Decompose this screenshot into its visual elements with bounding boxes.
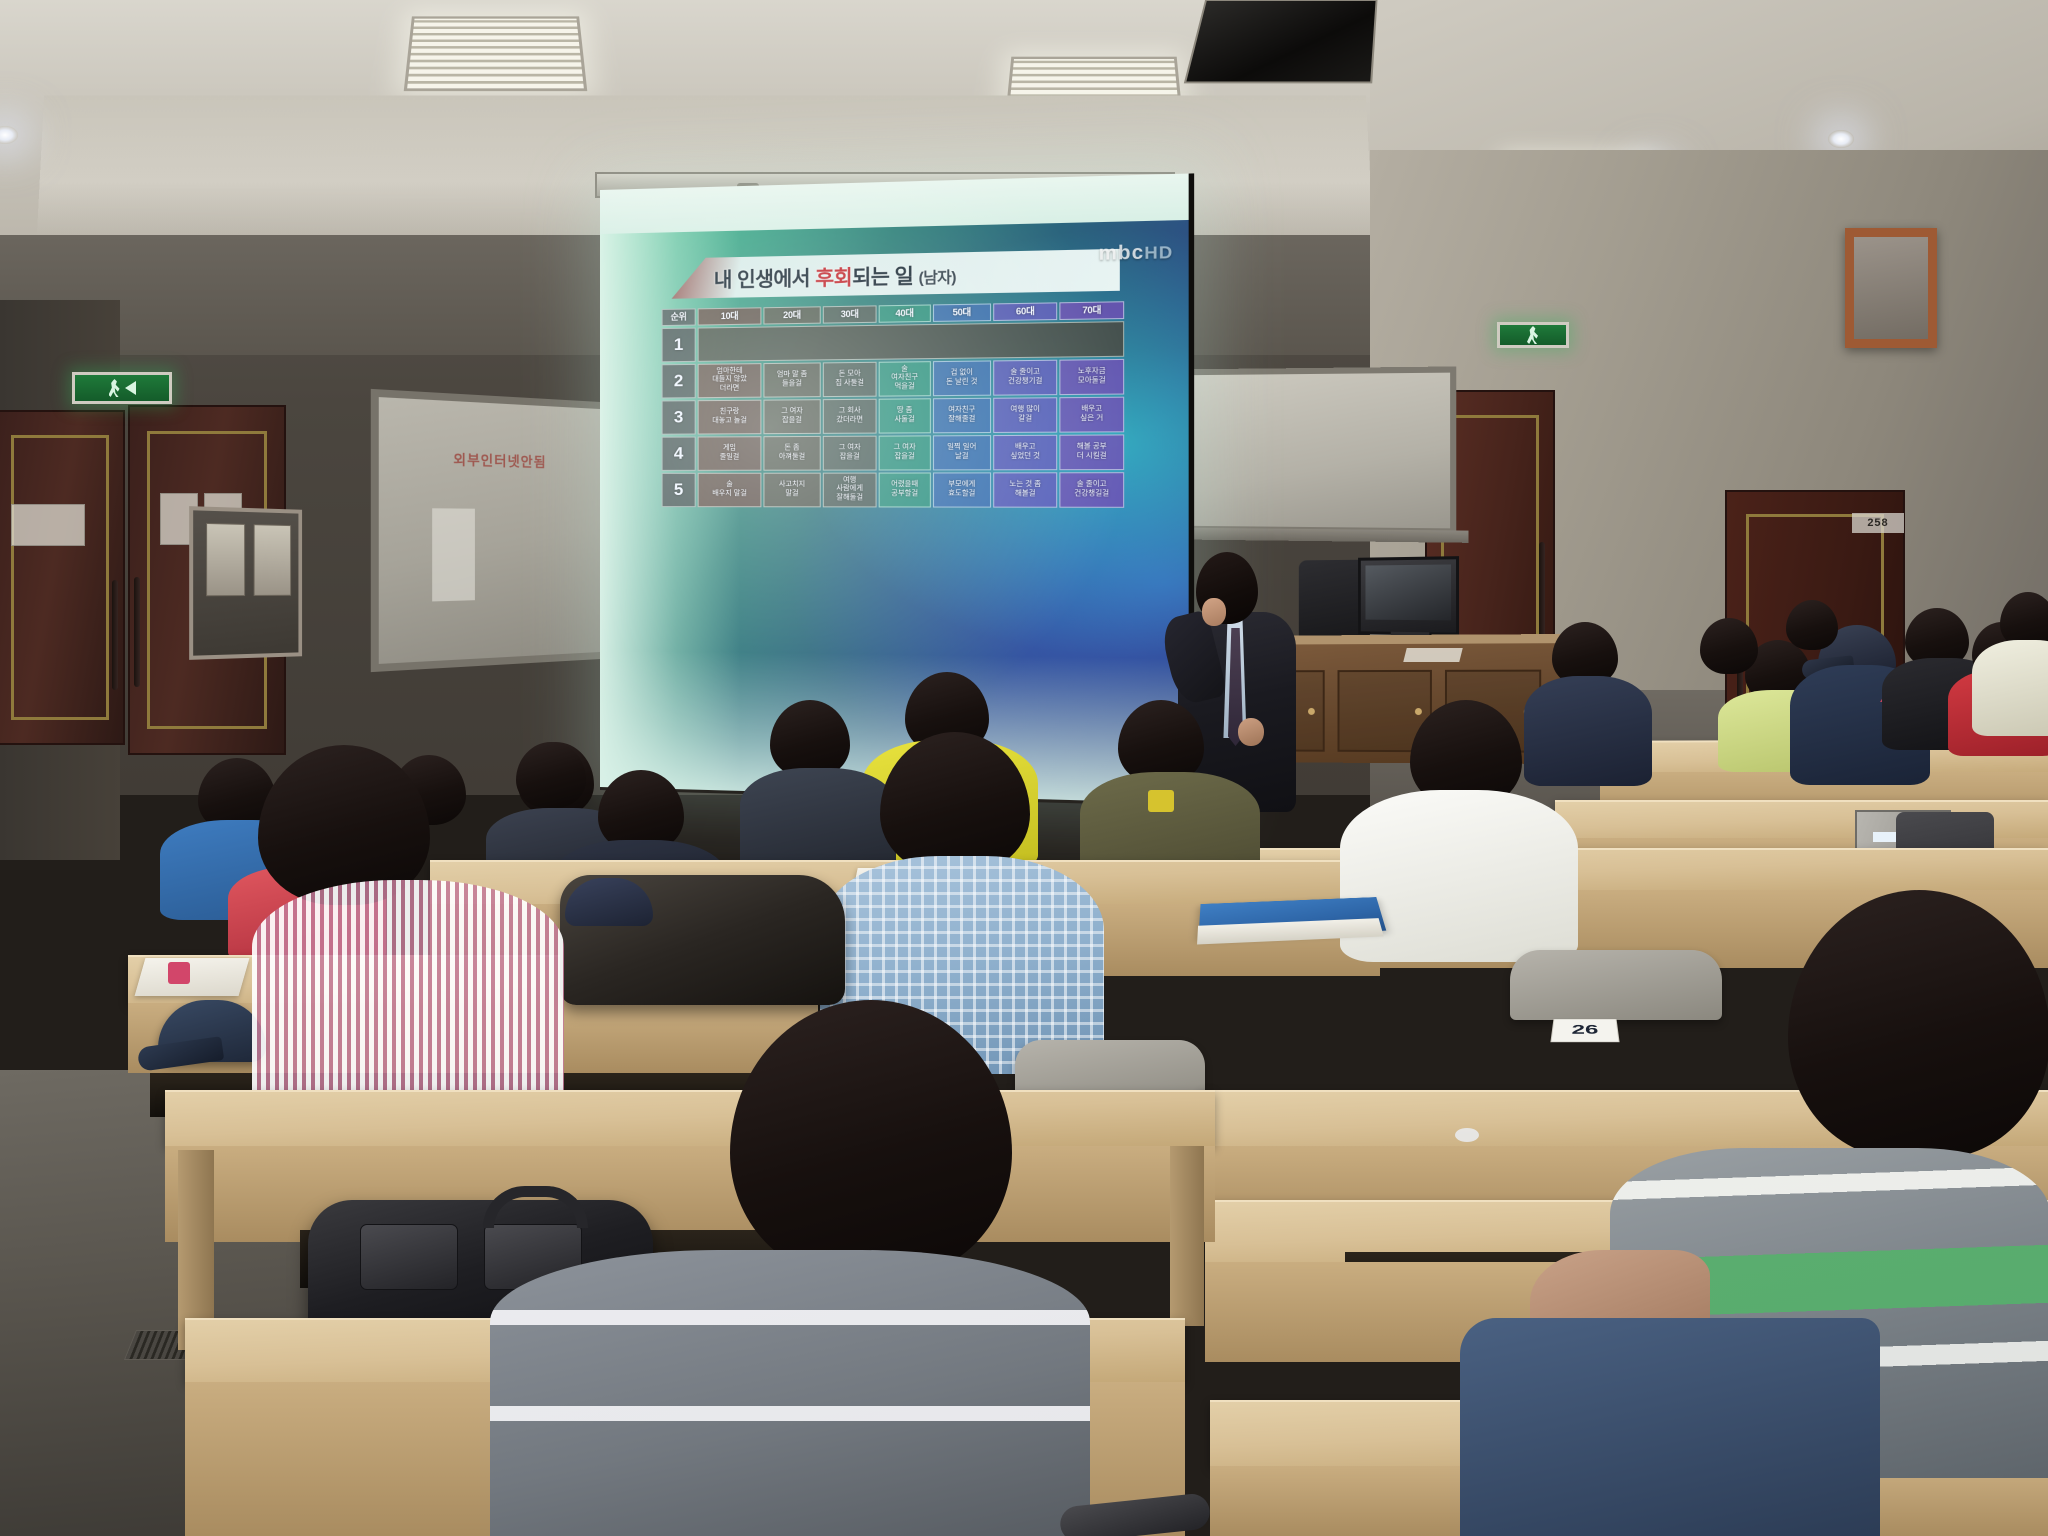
- table-cell: 엄마 말 좀들을걸: [764, 362, 821, 397]
- bulletin-board: [189, 506, 302, 660]
- student-torso: [1972, 640, 2048, 736]
- table-cell: 땅 좀사둘걸: [879, 398, 930, 433]
- projection-screen: mbcHD 내 인생에서 후회되는 일 (남자) 순위10대20대30대40대5…: [600, 173, 1194, 806]
- table-row: 2엄마한테대들지 않았더라면엄마 말 좀들을걸돈 모아집 사둘걸술여자친구먹을걸…: [662, 358, 1125, 398]
- table-cell: 여행사람에게잘해둘걸: [823, 472, 877, 507]
- student-jeans: [1460, 1318, 1880, 1536]
- table-cell: 친구랑대놓고 놀걸: [698, 399, 762, 434]
- table-rank-cell: 1: [662, 327, 696, 362]
- table-cell-empty: [698, 321, 1125, 362]
- regrets-table: 순위10대20대30대40대50대60대70대 12엄마한테대들지 않았더라면엄…: [660, 299, 1127, 509]
- lanyard-badge: [1148, 790, 1174, 812]
- slide-title-prefix: 내 인생에서: [714, 268, 815, 292]
- table-cell: 그 여자잡을걸: [823, 435, 877, 470]
- ceiling-downlight: [1828, 130, 1854, 148]
- presenter-raised-hand: [1202, 598, 1226, 626]
- table-header-age-50대: 50대: [932, 303, 991, 321]
- bag-pocket: [360, 1224, 458, 1290]
- table-header-rank: 순위: [662, 308, 696, 325]
- table-cell: 겁 없이돈 날린 것: [932, 360, 991, 396]
- exit-arrow-icon: [125, 381, 136, 395]
- table-header-age-30대: 30대: [823, 305, 877, 323]
- student-torso: [1524, 676, 1652, 786]
- table-cell: 술 줄이고건강챙길걸: [1059, 472, 1124, 508]
- poster: [206, 523, 245, 596]
- whiteboard-left: 외부인터넷안됨: [371, 389, 618, 672]
- table-cell: 술 줄이고건강챙기걸: [993, 359, 1057, 395]
- monitor-screen: [1365, 564, 1451, 620]
- poster: [254, 524, 291, 596]
- whiteboard-paper: [432, 508, 475, 601]
- projected-slide: mbcHD 내 인생에서 후회되는 일 (남자) 순위10대20대30대40대5…: [600, 220, 1189, 806]
- table-cell: 사고치지말걸: [764, 472, 821, 507]
- table-rank-cell: 2: [662, 363, 696, 398]
- table-header-age-10대: 10대: [698, 307, 762, 325]
- lecture-hall-scene: 258 외부인터넷안됨 mbcHD 내 인생에서 후회되는 일 (남자): [0, 0, 2048, 1536]
- table-rank-cell: 3: [662, 400, 696, 434]
- desk-leg: [1170, 1146, 1204, 1326]
- podium-monitor[interactable]: [1358, 556, 1459, 636]
- chair[interactable]: [1510, 950, 1722, 1020]
- desk-grommet: [1455, 1128, 1479, 1142]
- door-handle[interactable]: [134, 577, 140, 687]
- desk-row-front-left: [165, 1090, 1215, 1146]
- table-header-age-60대: 60대: [993, 302, 1057, 320]
- drawer-knob: [1415, 708, 1422, 715]
- table-cell: 돈 모아집 사둘걸: [823, 361, 877, 396]
- table-cell: 술여자친구먹을걸: [879, 361, 930, 396]
- presenter-lower-hand: [1238, 718, 1264, 746]
- table-rank-cell: 4: [662, 436, 696, 470]
- papers-on-podium: [1403, 648, 1462, 662]
- running-person-icon: [109, 379, 121, 397]
- framed-picture: [1845, 228, 1937, 348]
- table-cell: 여자친구잘해줄걸: [932, 397, 991, 433]
- drawer-knob: [1308, 708, 1315, 715]
- student-head: [1700, 618, 1758, 674]
- student-head: [1786, 600, 1838, 650]
- table-cell: 그 회사갔더라면: [823, 398, 877, 433]
- table-cell: 여행 많이갈걸: [993, 397, 1057, 433]
- table-cell: 배우고싶었던 것: [993, 434, 1057, 470]
- mbc-logo: mbcHD: [1099, 241, 1174, 266]
- internet-warning-sign: 외부인터넷안됨: [379, 446, 612, 473]
- table-cell: 그 여자잡을걸: [764, 399, 821, 434]
- table-header-age-70대: 70대: [1059, 301, 1124, 319]
- pink-highlighter: [168, 962, 190, 984]
- slide-title-parenthetical: (남자): [919, 269, 956, 287]
- emergency-exit-sign-left: [72, 372, 172, 404]
- table-cell: 어렸을때공부할걸: [879, 472, 930, 507]
- table-cell: 돈 좀아껴둘걸: [764, 436, 821, 471]
- slide-title-suffix: 되는 일: [852, 266, 918, 290]
- running-person-icon: [1527, 326, 1539, 344]
- ceiling-light-panel: [404, 16, 588, 91]
- table-row: 3친구랑대놓고 놀걸그 여자잡을걸그 회사갔더라면땅 좀사둘걸여자친구잘해줄걸여…: [662, 396, 1125, 434]
- door-handle[interactable]: [112, 580, 118, 690]
- emergency-exit-sign-right: [1497, 322, 1569, 348]
- slide-title-bar: 내 인생에서 후회되는 일 (남자): [672, 249, 1120, 299]
- table-row: 1: [662, 321, 1125, 362]
- table-cell: 노후자금모아둘걸: [1059, 358, 1124, 394]
- door-left-1[interactable]: [0, 410, 125, 745]
- table-cell: 일찍 일어날걸: [932, 435, 991, 470]
- table-cell: 배우고싶은 거: [1059, 396, 1124, 432]
- whiteboard-right: [1169, 366, 1456, 534]
- door-panel: [11, 435, 109, 720]
- slide-title-highlight: 후회: [815, 267, 852, 290]
- student-torso: [490, 1250, 1090, 1536]
- table-row: 5술배우지 말걸사고치지말걸여행사람에게잘해둘걸어렸을때공부할걸부모에게효도할걸…: [662, 472, 1125, 508]
- desk-number-26: 26: [1550, 1019, 1619, 1042]
- table-cell: 노는 것 좀해볼걸: [993, 472, 1057, 507]
- table-cell: 게임줄일걸: [698, 436, 762, 471]
- table-cell: 그 여자잡을걸: [879, 435, 930, 470]
- table-cell: 엄마한테대들지 않았더라면: [698, 363, 762, 398]
- papers-on-desk: [135, 958, 250, 996]
- table-cell: 술배우지 말걸: [698, 472, 762, 507]
- table-header-age-40대: 40대: [879, 304, 930, 322]
- room-number-plate: 258: [1852, 513, 1904, 533]
- table-row: 4게임줄일걸돈 좀아껴둘걸그 여자잡을걸그 여자잡을걸일찍 일어날걸배우고싶었던…: [662, 434, 1125, 470]
- table-rank-cell: 5: [662, 472, 696, 506]
- table-cell: 부모에게효도할걸: [932, 472, 991, 507]
- ceiling-air-vent: [1184, 0, 1378, 83]
- table-cell: 해볼 공부더 시킬걸: [1059, 434, 1124, 470]
- table-header-age-20대: 20대: [764, 306, 821, 324]
- door-notice: [11, 504, 85, 546]
